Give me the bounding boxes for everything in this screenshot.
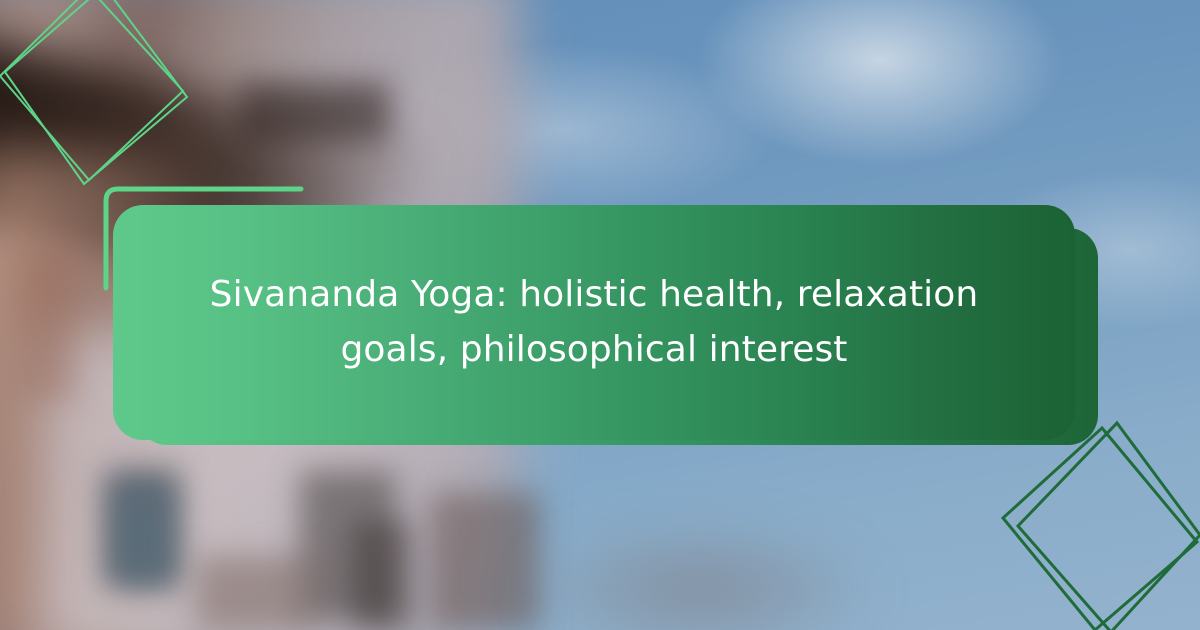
square-outline-a (0, 0, 183, 180)
window-block (196, 556, 316, 630)
rotated-square-outline-icon (0, 0, 218, 204)
headline-card: Sivananda Yoga: holistic health, relaxat… (113, 205, 1075, 440)
decorative-squares-bottom-right (985, 418, 1200, 630)
rotated-square-outline-icon (985, 418, 1200, 630)
square-outline-a (1003, 428, 1197, 630)
decorative-squares-top-left (0, 0, 218, 204)
square-outline-b (5, 0, 187, 184)
page-title: Sivananda Yoga: holistic health, relaxat… (113, 267, 1075, 379)
window-block (18, 250, 76, 400)
foreground-blur-smudge (520, 520, 880, 630)
social-card-canvas: Sivananda Yoga: holistic health, relaxat… (0, 0, 1200, 630)
window-block (240, 82, 390, 142)
window-block (352, 520, 412, 630)
window-block (118, 490, 170, 582)
square-outline-b (1018, 423, 1200, 630)
